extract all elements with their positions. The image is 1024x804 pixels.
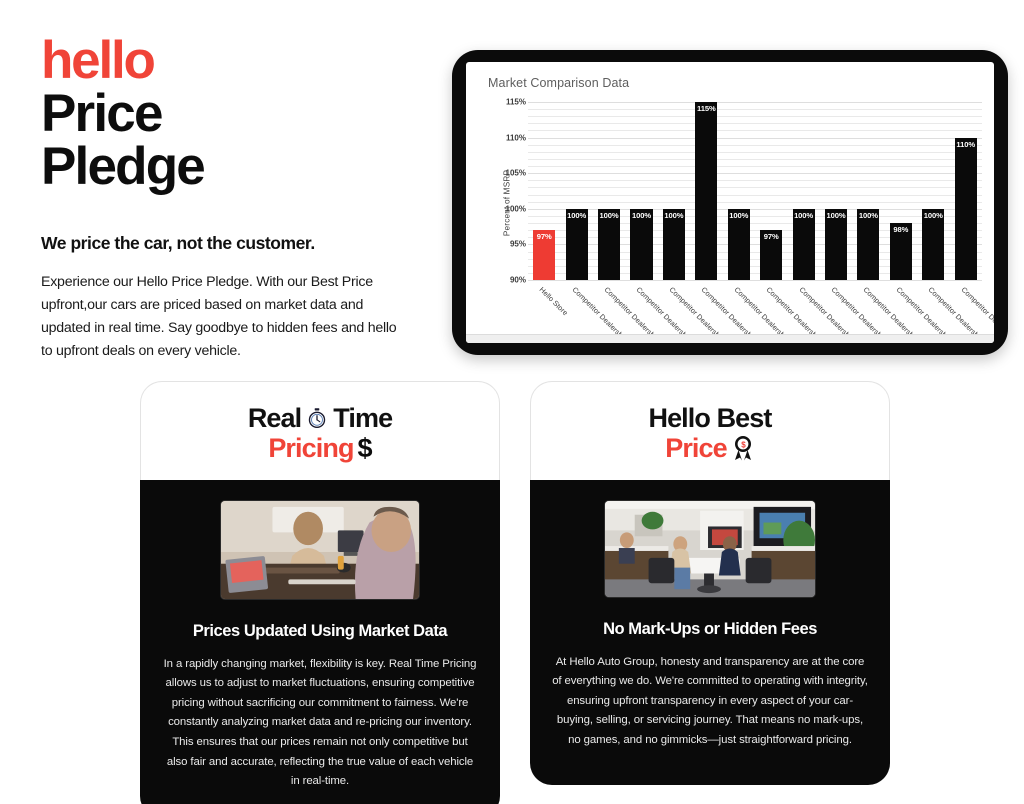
- bar-column: 100%: [593, 102, 625, 280]
- card-header-line-2: Pricing $: [141, 433, 499, 463]
- bar-value-label: 110%: [955, 140, 977, 149]
- bar-chart: Percent of MSRP 90%95%100%105%110%115% 9…: [466, 62, 994, 343]
- bar-value-label: 100%: [566, 211, 588, 220]
- hero-section: hello Price Pledge We price the car, not…: [41, 36, 421, 363]
- card-description: At Hello Auto Group, honesty and transpa…: [552, 653, 868, 751]
- chart-bar[interactable]: 97%: [533, 230, 555, 280]
- card-header: Hello Best Price $: [530, 381, 890, 480]
- chart-bar[interactable]: 100%: [598, 209, 620, 280]
- chart-bars: 97%100%100%100%100%115%100%97%100%100%10…: [528, 102, 982, 280]
- y-axis-tick-label: 115%: [506, 98, 526, 107]
- page-title-line-1: Price: [41, 87, 421, 140]
- bar-value-label: 100%: [663, 211, 685, 220]
- y-axis-tick-label: 100%: [506, 204, 526, 213]
- bar-value-label: 100%: [598, 211, 620, 220]
- chart-bar[interactable]: 100%: [630, 209, 652, 280]
- card-title: No Mark-Ups or Hidden Fees: [552, 620, 868, 639]
- bar-value-label: 100%: [630, 211, 652, 220]
- card-head-word-pricing: Pricing: [268, 433, 353, 463]
- screen-bottom-band: [466, 334, 994, 343]
- tablet-device-frame: Market Comparison Data Percent of MSRP 9…: [452, 50, 1008, 355]
- bar-column: 100%: [852, 102, 884, 280]
- bar-value-label: 100%: [825, 211, 847, 220]
- chart-bar[interactable]: 100%: [857, 209, 879, 280]
- bar-value-label: 115%: [695, 104, 717, 113]
- chart-bar[interactable]: 97%: [760, 230, 782, 280]
- y-axis-tick-label: 105%: [506, 169, 526, 178]
- bar-column: 97%: [755, 102, 787, 280]
- bar-column: 100%: [917, 102, 949, 280]
- card-head-word-time: Time: [333, 404, 392, 432]
- chart-bar[interactable]: 98%: [890, 223, 912, 280]
- tablet-screen: Market Comparison Data Percent of MSRP 9…: [466, 62, 994, 343]
- card-head-word-real: Real: [248, 404, 301, 432]
- bar-value-label: 98%: [890, 225, 912, 234]
- card-body: Prices Updated Using Market Data In a ra…: [140, 480, 500, 804]
- stopwatch-icon: [306, 407, 328, 429]
- brand-wordmark: hello: [41, 36, 421, 87]
- feature-card-hello-best-price: Hello Best Price $: [530, 381, 890, 785]
- card-head-text: Hello Best: [648, 404, 771, 432]
- card-header-line-1: Hello Best: [531, 404, 889, 432]
- y-axis-tick-label: 95%: [510, 240, 526, 249]
- bar-column: 97%: [528, 102, 560, 280]
- chart-bar[interactable]: 100%: [728, 209, 750, 280]
- bar-column: 115%: [690, 102, 722, 280]
- award-ribbon-icon: $: [731, 435, 755, 461]
- page-title-line-2: Pledge: [41, 140, 421, 193]
- dealership-showroom-photo: [604, 500, 816, 598]
- gridline: [528, 280, 982, 281]
- bar-column: 100%: [820, 102, 852, 280]
- bar-column: 100%: [723, 102, 755, 280]
- bar-value-label: 100%: [857, 211, 879, 220]
- y-axis-tick-label: 90%: [510, 276, 526, 285]
- chart-bar[interactable]: 100%: [663, 209, 685, 280]
- bar-value-label: 100%: [728, 211, 750, 220]
- card-body: No Mark-Ups or Hidden Fees At Hello Auto…: [530, 480, 890, 785]
- chart-bar[interactable]: 100%: [922, 209, 944, 280]
- hero-body-text: Experience our Hello Price Pledge. With …: [41, 271, 409, 363]
- chart-bar[interactable]: 100%: [825, 209, 847, 280]
- bar-column: 98%: [885, 102, 917, 280]
- feature-card-real-time-pricing: Real Time Pricing $: [140, 381, 500, 804]
- chart-bar[interactable]: 100%: [793, 209, 815, 280]
- bar-value-label: 97%: [533, 232, 555, 241]
- bar-value-label: 100%: [922, 211, 944, 220]
- bar-column: 100%: [560, 102, 592, 280]
- chart-bar[interactable]: 110%: [955, 138, 977, 280]
- price-pledge-page: hello Price Pledge We price the car, not…: [0, 0, 1024, 804]
- y-axis-tick-label: 110%: [506, 133, 526, 142]
- card-title: Prices Updated Using Market Data: [162, 622, 478, 641]
- bar-value-label: 97%: [760, 232, 782, 241]
- bar-column: 100%: [787, 102, 819, 280]
- card-description: In a rapidly changing market, flexibilit…: [162, 655, 478, 792]
- bar-value-label: 100%: [793, 211, 815, 220]
- card-header-line-1: Real Time: [141, 404, 499, 432]
- office-meeting-photo: [220, 500, 420, 600]
- chart-bar[interactable]: 115%: [695, 102, 717, 280]
- card-header-line-2: Price $: [531, 433, 889, 463]
- y-axis-ticks: 90%95%100%105%110%115%: [486, 102, 526, 280]
- bar-column: 100%: [658, 102, 690, 280]
- chart-bar[interactable]: 100%: [566, 209, 588, 280]
- bar-column: 110%: [949, 102, 981, 280]
- bar-column: 100%: [625, 102, 657, 280]
- dollar-sign-icon: $: [358, 433, 372, 463]
- card-header: Real Time Pricing $: [140, 381, 500, 480]
- hero-subtitle: We price the car, not the customer.: [41, 233, 421, 254]
- card-head-word-price: Price: [665, 433, 727, 463]
